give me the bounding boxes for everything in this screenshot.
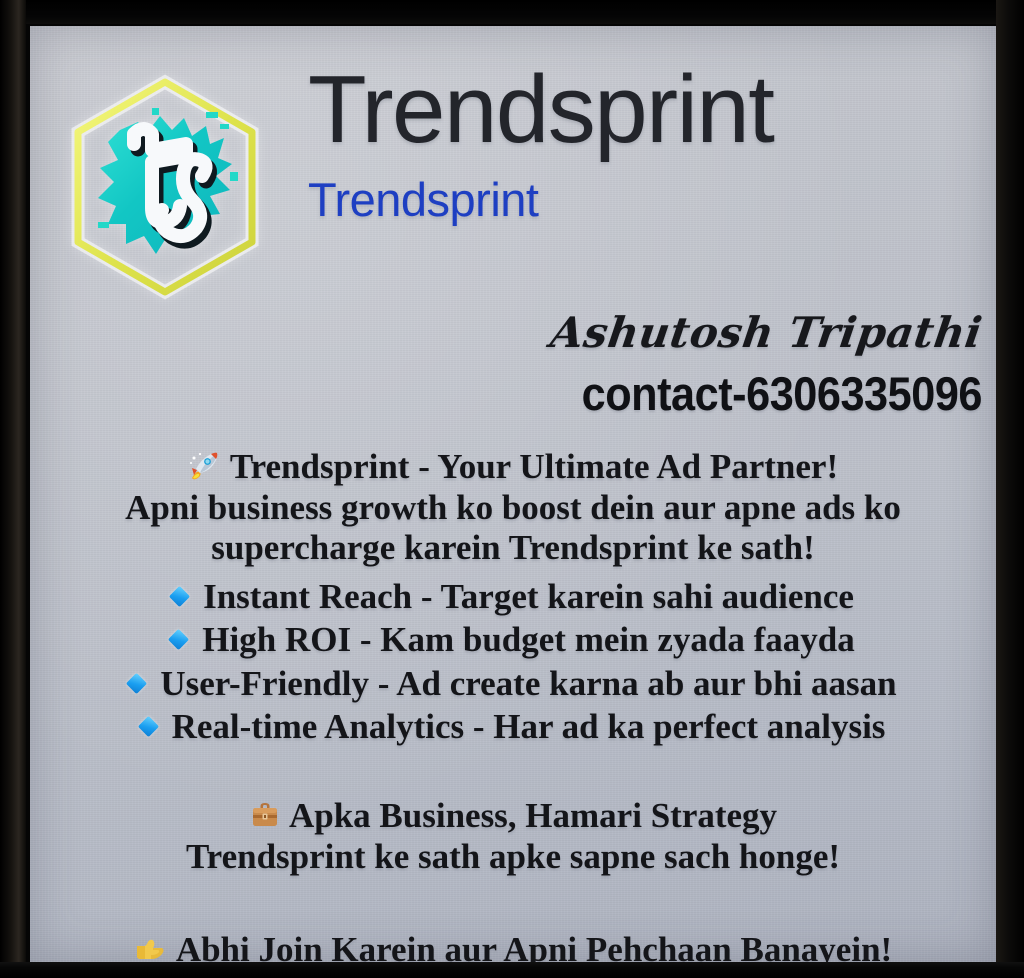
- closing-line-2: Trendsprint ke sath apke sapne sach hong…: [40, 837, 986, 878]
- list-item-label: User-Friendly - Ad create karna ab aur b…: [160, 662, 896, 705]
- blue-diamond-bullet-icon: [126, 673, 147, 694]
- frame-top-edge: [0, 0, 1024, 24]
- feature-list: Instant Reach - Target karein sahi audie…: [40, 575, 986, 749]
- list-item: High ROI - Kam budget mein zyada faayda: [40, 618, 986, 661]
- body-copy: Trendsprint - Your Ultimate Ad Partner! …: [30, 417, 996, 962]
- frame-left-edge: [0, 0, 26, 978]
- frame-right-edge: [996, 0, 1024, 978]
- page-title: Trendsprint: [308, 62, 996, 158]
- briefcase-emoji: [249, 799, 281, 831]
- hook-line: Trendsprint - Your Ultimate Ad Partner!: [40, 447, 986, 488]
- card-header: Trendsprint Trendsprint: [30, 26, 996, 268]
- blue-diamond-bullet-icon: [137, 716, 158, 737]
- cta-text[interactable]: Abhi Join Karein aur Apni Pehchaan Banay…: [176, 930, 892, 962]
- trendsprint-hexagon-logo-icon: [60, 72, 270, 302]
- blue-diamond-bullet-icon: [168, 629, 189, 650]
- list-item-label: Real-time Analytics - Har ad ka perfect …: [172, 705, 886, 748]
- advertisement-card: Trendsprint Trendsprint Ashutosh Tripath…: [30, 26, 996, 962]
- cta-line[interactable]: Abhi Join Karein aur Apni Pehchaan Banay…: [40, 930, 986, 962]
- closing-block: Apka Business, Hamari Strategy Trendspri…: [40, 796, 986, 877]
- list-item-label: High ROI - Kam budget mein zyada faayda: [202, 618, 854, 661]
- contact-block: Ashutosh Tripathi contact-6306335096: [30, 312, 996, 417]
- logo-container: [30, 36, 300, 302]
- photo-frame: Trendsprint Trendsprint Ashutosh Tripath…: [0, 0, 1024, 978]
- rocket-emoji: [188, 448, 222, 482]
- intro-line-2: supercharge karein Trendsprint ke sath!: [40, 528, 986, 569]
- list-item: Real-time Analytics - Har ad ka perfect …: [40, 705, 986, 748]
- list-item-label: Instant Reach - Target karein sahi audie…: [203, 575, 854, 618]
- frame-bottom-edge: [0, 962, 1024, 978]
- owner-name: Ashutosh Tripathi: [548, 312, 985, 354]
- blue-diamond-bullet-icon: [169, 586, 190, 607]
- list-item: Instant Reach - Target karein sahi audie…: [40, 575, 986, 618]
- brand-text-block: Trendsprint Trendsprint: [300, 36, 996, 223]
- list-item: User-Friendly - Ad create karna ab aur b…: [40, 662, 986, 705]
- hook-text: Trendsprint - Your Ultimate Ad Partner!: [230, 447, 838, 486]
- closing-line-1: Apka Business, Hamari Strategy: [40, 796, 986, 837]
- pointing-right-hand-emoji: [134, 935, 168, 962]
- intro-line-1: Apni business growth ko boost dein aur a…: [40, 488, 986, 529]
- cta-block[interactable]: Abhi Join Karein aur Apni Pehchaan Banay…: [40, 930, 986, 962]
- closing-text-1: Apka Business, Hamari Strategy: [289, 796, 777, 835]
- brand-subtitle: Trendsprint: [308, 176, 996, 223]
- contact-phone[interactable]: contact-6306335096: [106, 370, 982, 417]
